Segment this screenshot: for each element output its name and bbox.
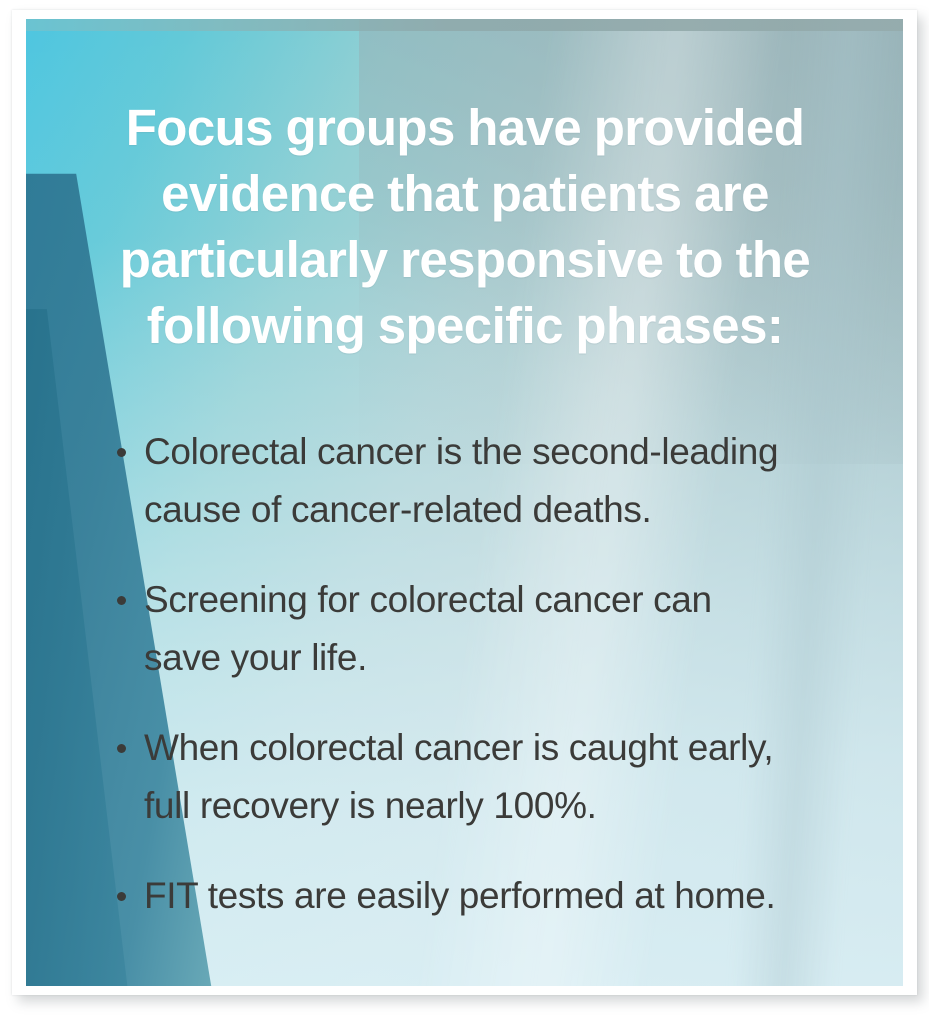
list-item: Colorectal cancer is the second-leading … [112, 423, 902, 539]
list-item: When colorectal cancer is caught early, … [112, 719, 902, 835]
bullet-4-line-1: FIT tests are easily performed at home. [144, 867, 902, 925]
slide-page: Focus groups have provided evidence that… [0, 0, 929, 1024]
bullet-2-line-1: Screening for colorectal cancer can [144, 571, 902, 629]
bullet-1-line-1: Colorectal cancer is the second-leading [144, 423, 902, 481]
bullet-1-line-2: cause of cancer-related deaths. [144, 481, 902, 539]
slide-frame: Focus groups have provided evidence that… [12, 10, 917, 995]
headline-line-2: evidence that patients are [80, 161, 850, 227]
list-item: FIT tests are easily performed at home. [112, 867, 902, 925]
headline-line-3: particularly responsive to the [80, 227, 850, 293]
bullet-list: Colorectal cancer is the second-leading … [112, 423, 902, 925]
slide-headline: Focus groups have provided evidence that… [80, 95, 850, 359]
bullet-dot-icon [117, 448, 126, 457]
bullet-text-3: When colorectal cancer is caught early, … [144, 719, 902, 835]
bullet-3-line-1: When colorectal cancer is caught early, [144, 719, 902, 777]
bullet-dot-icon [117, 744, 126, 753]
bullet-3-line-2: full recovery is nearly 100%. [144, 777, 902, 835]
headline-line-4: following specific phrases: [80, 293, 850, 359]
headline-line-1: Focus groups have provided [80, 95, 850, 161]
list-item: Screening for colorectal cancer can save… [112, 571, 902, 687]
bullet-dot-icon [117, 596, 126, 605]
bullet-text-1: Colorectal cancer is the second-leading … [144, 423, 902, 539]
bullet-text-2: Screening for colorectal cancer can save… [144, 571, 902, 687]
slide-canvas: Focus groups have provided evidence that… [26, 19, 903, 986]
bullet-2-line-2: save your life. [144, 629, 902, 687]
bullet-dot-icon [117, 892, 126, 901]
bullet-text-4: FIT tests are easily performed at home. [144, 867, 902, 925]
slide-content: Focus groups have provided evidence that… [26, 19, 903, 986]
